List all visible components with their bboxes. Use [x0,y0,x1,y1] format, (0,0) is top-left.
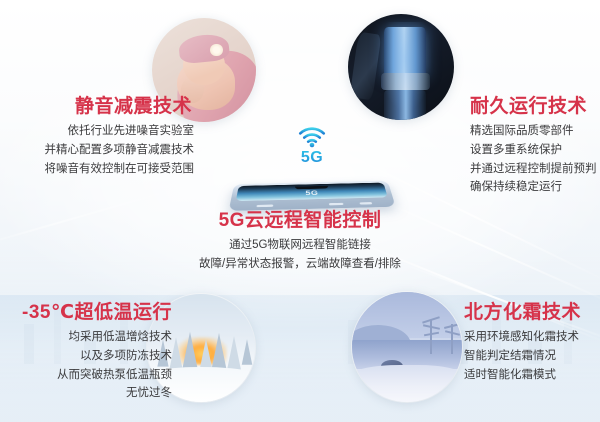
feature-lines-5g-cloud: 通过5G物联网远程智能链接 故障/异常状态报警，云端故障查看/排除 [150,236,450,273]
feature-line: 设置多重系统保护 [470,141,598,160]
feature-block-cold: -35℃超低温运行 均采用低温增焓技术 以及多项防冻技术 从而突破热泵低温瓶颈 … [0,302,172,403]
feature-line: 无忧过冬 [0,384,172,403]
feature-lines-quiet: 依托行业先进噪音实验室 并精心配置多项静音减震技术 将噪音有效控制在可接受范围 [8,122,194,178]
smartphone-port [256,205,273,208]
5g-badge-label: 5G [301,149,323,167]
smartphone-speaker [359,202,372,205]
feature-line: 采用环境感知化霜技术 [464,328,600,347]
infographic-poster: 5G 5G 静音减震技术 依托行业先进噪音实验室 并精心配置多项静音减震技术 将… [0,0,600,422]
feature-line: 通过5G物联网远程智能链接 [150,236,450,255]
feature-line: 均采用低温增焓技术 [0,328,172,347]
light-streak [0,189,172,251]
feature-title-cold: -35℃超低温运行 [0,302,172,323]
feature-lines-durable: 精选国际品质零部件 设置多重系统保护 并通过远程控制提前预判 确保持续稳定运行 [470,122,598,197]
feature-line: 精选国际品质零部件 [470,122,598,141]
smartphone-screen: 5G [236,183,388,202]
feature-line: 确保持续稳定运行 [470,178,598,197]
5g-badge: 5G [232,126,392,167]
smartphone-notch [295,186,328,189]
feature-block-durable: 耐久运行技术 精选国际品质零部件 设置多重系统保护 并通过远程控制提前预判 确保… [470,96,598,197]
feature-line: 从而突破热泵低温瓶颈 [0,366,172,385]
smartphone-body: 5G [229,181,396,211]
feature-line: 适时智能化霜模式 [464,366,600,385]
feature-line: 依托行业先进噪音实验室 [8,122,194,141]
feature-block-5g-cloud: 5G云远程智能控制 通过5G物联网远程智能链接 故障/异常状态报警，云端故障查看… [150,210,450,274]
feature-title-quiet: 静音减震技术 [8,96,194,117]
compressor-machine-photo [348,14,454,120]
wifi-signal-icon [297,126,327,148]
smartphone-speaker [329,203,344,206]
feature-line: 将噪音有效控制在可接受范围 [8,160,194,179]
feature-block-defrost: 北方化霜技术 采用环境感知化霜技术 智能判定结霜情况 适时智能化霜模式 [464,302,600,384]
smartphone-screen-label: 5G [305,190,318,197]
frosty-lake-winter-photo [352,292,462,402]
feature-lines-cold: 均采用低温增焓技术 以及多项防冻技术 从而突破热泵低温瓶颈 无忧过冬 [0,328,172,403]
feature-title-defrost: 北方化霜技术 [464,302,600,323]
feature-line: 智能判定结霜情况 [464,347,600,366]
feature-line: 并通过远程控制提前预判 [470,160,598,179]
feature-title-5g-cloud: 5G云远程智能控制 [150,210,450,231]
feature-lines-defrost: 采用环境感知化霜技术 智能判定结霜情况 适时智能化霜模式 [464,328,600,384]
feature-title-durable: 耐久运行技术 [470,96,598,117]
feature-line: 以及多项防冻技术 [0,347,172,366]
feature-block-quiet: 静音减震技术 依托行业先进噪音实验室 并精心配置多项静音减震技术 将噪音有效控制… [8,96,194,178]
feature-line: 故障/异常状态报警，云端故障查看/排除 [150,255,450,274]
feature-line: 并精心配置多项静音减震技术 [8,141,194,160]
